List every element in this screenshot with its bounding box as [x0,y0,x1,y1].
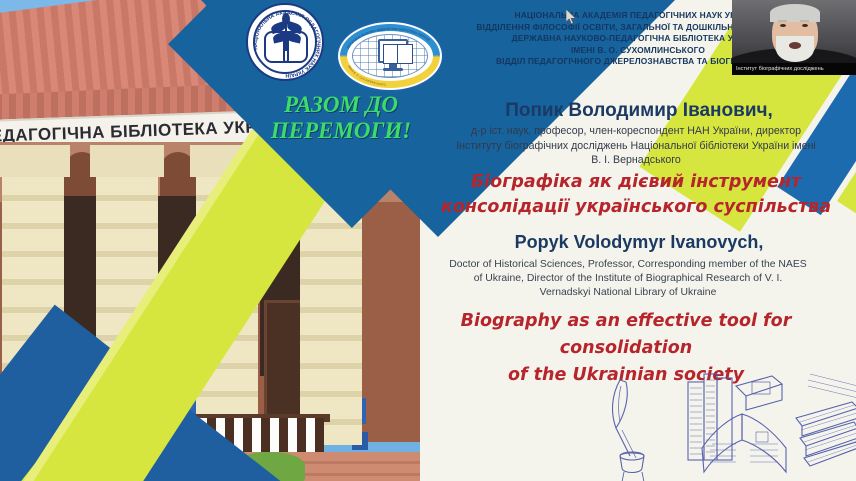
decor-band-lime [0,120,345,481]
talk-title-line: Biography as an effective tool for conso… [398,308,854,362]
position-line: Vernadskyi National Library of Ukraine [402,286,854,300]
speaker-name-ua: Попик Володимир Іванович, [430,100,848,122]
victory-slogan-line1: РАЗОМ ДО [256,92,426,118]
victory-slogan-line2: ПЕРЕМОГИ! [256,118,426,144]
position-line: В. І. Вернадського [418,153,854,168]
library-emblem-icon: ДЕРЖАВНА НАУКОВО-ПЕДАГОГІЧНА БІБЛІОТЕКА … [336,20,444,92]
eyebrow [778,20,787,22]
talk-title-ua: Біографіка як дієвий інструмент консолід… [420,170,852,220]
naps-ukraine-emblem-icon: НАЦІОНАЛЬНА АКАДЕМІЯ ПЕДАГОГІЧНИХ НАУК У… [246,3,324,81]
webcam-overlay[interactable]: Інститут біографічних досліджень [732,0,856,75]
speaker-name-en: Popyk Volodymyr Ivanovych, [430,232,848,253]
victory-slogan: РАЗОМ ДО ПЕРЕМОГИ! [256,92,426,144]
talk-title-line: консолідації українського суспільства [420,195,852,220]
eye [802,24,808,27]
talk-title-line: Біографіка як дієвий інструмент [420,170,852,195]
position-line: Doctor of Historical Sciences, Professor… [402,258,854,272]
position-line: Інституту біографічних досліджень Націон… [418,139,854,154]
mouth [789,42,801,49]
books-and-quill-illustration-icon [596,372,856,481]
speaker-position-en: Doctor of Historical Sciences, Professor… [402,258,854,300]
participant-beard [776,36,814,62]
participant-name-label: Інститут біографічних досліджень [732,63,856,75]
speaker-position-ua: д-р іст. наук, професор, член-кореспонде… [418,124,854,168]
presentation-slide: НАЦІОНАЛЬНА АКАДЕМІЯ ПЕДАГОГІЧНИХ НАУК У… [0,0,856,481]
svg-text:ДЕРЖАВНА НАУКОВО-ПЕДАГОГІЧНА Б: ДЕРЖАВНА НАУКОВО-ПЕДАГОГІЧНА БІБЛІОТЕКА … [346,27,431,50]
svg-text:ІМЕНІ В. О. СУХОМЛИНСЬКОГО: ІМЕНІ В. О. СУХОМЛИНСЬКОГО [347,65,387,87]
position-line: of Ukraine, Director of the Institute of… [402,272,854,286]
position-line: д-р іст. наук, професор, член-кореспонде… [418,124,854,139]
video-slide-frame: ПЕДАГОГІЧНА БІБЛІОТЕКА УКРАЇНИ ім. [0,0,856,481]
eyebrow [800,20,809,22]
eye [780,24,786,27]
